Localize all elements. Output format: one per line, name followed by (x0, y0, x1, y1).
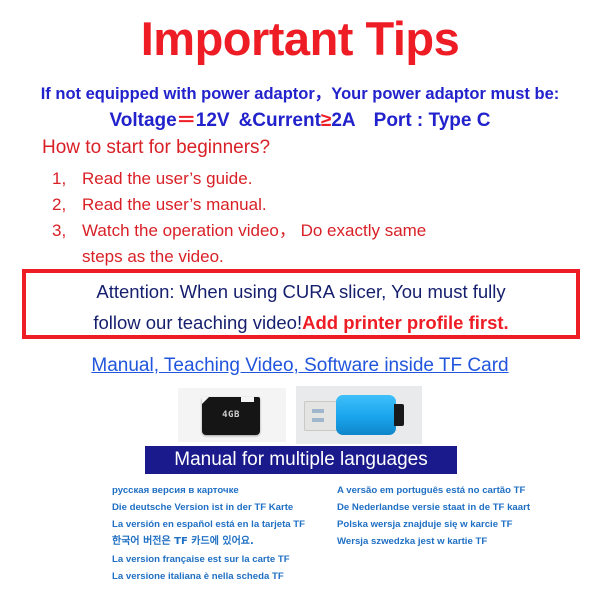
list-item: 3,Watch the operation video， Do exactly … (52, 218, 592, 244)
voltage-value: 12V (196, 110, 230, 131)
step-number: 1, (52, 166, 82, 192)
adaptor-line1-part-b: Your power adaptor must be: (331, 85, 559, 103)
usb-reader-body (336, 395, 396, 435)
step-number: 3, (52, 218, 82, 244)
languages-banner: Manual for multiple languages (145, 446, 457, 474)
attention-line-2-emphasis: Add printer profile first. (302, 312, 509, 333)
current-label: &Current (239, 110, 321, 131)
list-item: La versión en español está en la tarjeta… (112, 516, 342, 533)
attention-line-1: Attention: When using CURA slicer, You m… (26, 273, 576, 307)
step-text: Read the user’s guide. (82, 169, 252, 188)
list-item: A versão em português está no cartão TF (337, 482, 567, 499)
step-number: 2, (52, 192, 82, 218)
adaptor-line1-comma: ， (315, 85, 332, 103)
page-title: Important Tips (0, 14, 600, 63)
accessory-photo-strip: 4GB (178, 386, 422, 444)
equals-symbol: ＝ (177, 110, 196, 131)
list-item: русская версия в карточке (112, 482, 342, 499)
current-value: 2A (331, 110, 355, 131)
adaptor-line1-part-a: If not equipped with power adaptor (41, 85, 315, 103)
language-column-right: A versão em português está no cartão TF … (337, 482, 567, 550)
step-continuation-text: steps as the video. (52, 244, 592, 270)
step-text: Watch the operation video， Do exactly sa… (82, 221, 426, 240)
voltage-label: Voltage (110, 110, 177, 131)
list-item: La version française est sur la carte TF (112, 551, 342, 568)
tf-card-contents-line: Manual, Teaching Video, Software inside … (0, 355, 600, 377)
usb-reader-end-tab (394, 404, 404, 426)
usb-contact-pin (312, 418, 324, 422)
important-tips-flyer: Important Tips If not equipped with powe… (0, 0, 600, 600)
microsd-card-body: 4GB (202, 397, 260, 435)
beginners-heading: How to start for beginners? (42, 137, 270, 159)
list-item: Polska wersja znajduje się w karcie TF (337, 516, 567, 533)
language-column-left: русская версия в карточке Die deutsche V… (112, 482, 342, 585)
languages-banner-label: Manual for multiple languages (145, 446, 457, 474)
list-item: 1,Read the user’s guide. (52, 166, 592, 192)
beginners-step-list: 1,Read the user’s guide. 2,Read the user… (52, 166, 592, 270)
list-item: La versione italiana è nella scheda TF (112, 568, 342, 585)
list-item: 2,Read the user’s manual. (52, 192, 592, 218)
usb-contact-pin (312, 409, 324, 413)
adaptor-spec-line: Voltage＝12V&Current≥2APort : Type C (0, 105, 600, 132)
list-item: Wersja szwedzka jest w kartie TF (337, 533, 567, 550)
attention-callout-box: Attention: When using CURA slicer, You m… (22, 269, 580, 339)
port-spec: Port : Type C (374, 110, 491, 131)
list-item: Die deutsche Version ist in der TF Karte (112, 499, 342, 516)
tf-card-contents-text: Manual, Teaching Video, Software inside … (91, 355, 508, 376)
microsd-card-bevel (202, 397, 209, 404)
list-item: De Nederlandse versie staat in de TF kaa… (337, 499, 567, 516)
list-item: 한국어 버전은 TF 카드에 있어요. (112, 533, 342, 551)
attention-line-2: follow our teaching video!Add printer pr… (26, 307, 576, 338)
usb-card-reader-photo (296, 386, 422, 444)
adaptor-requirement-line: If not equipped with power adaptor，Your … (0, 80, 600, 104)
microsd-card-photo: 4GB (178, 388, 286, 442)
attention-line-2-text: follow our teaching video! (93, 312, 302, 333)
microsd-capacity-label: 4GB (202, 410, 260, 420)
step-text: Read the user’s manual. (82, 195, 267, 214)
microsd-card-notch (241, 397, 254, 402)
greater-than-equal-symbol: ≥ (321, 110, 331, 131)
